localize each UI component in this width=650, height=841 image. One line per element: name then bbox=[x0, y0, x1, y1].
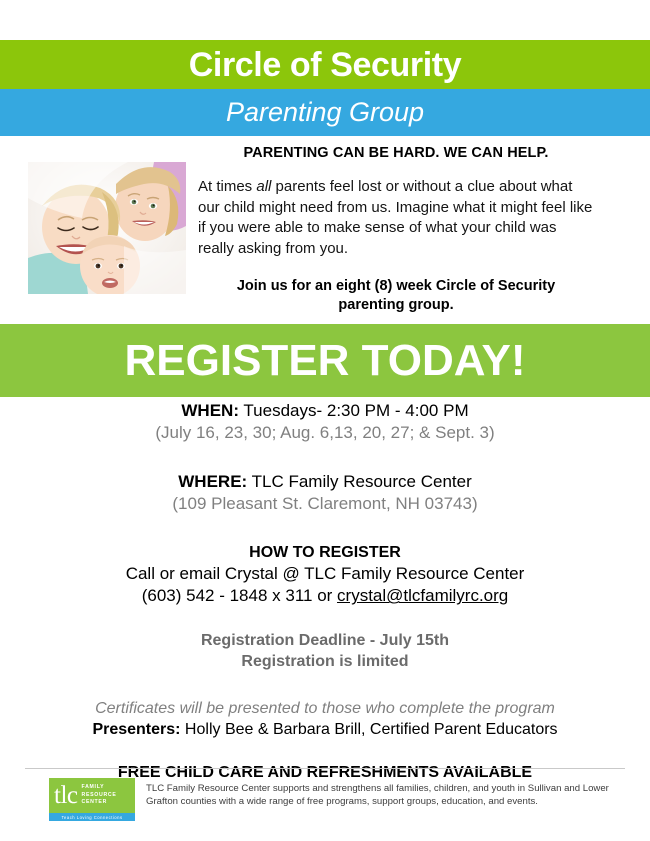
tlc-logo-wordmark: tlc bbox=[49, 783, 78, 808]
tlc-logo-word-resource: RESOURCE bbox=[82, 792, 117, 800]
children-photo-graphic bbox=[28, 162, 186, 294]
email-link[interactable]: crystal@tlcfamilyrc.org bbox=[337, 586, 508, 605]
registration-deadline: Registration Deadline - July 15th bbox=[0, 630, 650, 651]
children-photo bbox=[28, 162, 186, 294]
join-us-line-2: parenting group. bbox=[198, 296, 594, 315]
tlc-logo-tagline: Teach Loving Connections bbox=[49, 813, 135, 821]
tlc-logo-words: FAMILY RESOURCE CENTER bbox=[82, 784, 117, 807]
presenters-line: Presenters: Holly Bee & Barbara Brill, C… bbox=[0, 719, 650, 740]
join-us-callout: Join us for an eight (8) week Circle of … bbox=[198, 277, 594, 315]
intro-paragraph: At times all parents feel lost or withou… bbox=[198, 177, 594, 259]
intro-headline: PARENTING CAN BE HARD. WE CAN HELP. bbox=[198, 145, 594, 161]
page-title: Circle of Security bbox=[189, 48, 461, 82]
intro-copy: PARENTING CAN BE HARD. WE CAN HELP. At t… bbox=[198, 145, 594, 315]
how-to-register-label: HOW TO REGISTER bbox=[0, 542, 650, 563]
header-title-banner: Circle of Security bbox=[0, 40, 650, 89]
intro-paragraph-emphasis: all bbox=[256, 178, 271, 195]
registration-limited: Registration is limited bbox=[0, 651, 650, 672]
tlc-logo: tlc FAMILY RESOURCE CENTER Teach Loving … bbox=[49, 778, 135, 821]
where-line: WHERE: TLC Family Resource Center bbox=[0, 471, 650, 493]
details-section: WHEN: Tuesdays- 2:30 PM - 4:00 PM (July … bbox=[0, 400, 650, 783]
intro-paragraph-pre: At times bbox=[198, 178, 256, 195]
presenters-label: Presenters: bbox=[92, 721, 180, 738]
footer-divider bbox=[25, 768, 625, 769]
how-to-register-line-1: Call or email Crystal @ TLC Family Resou… bbox=[0, 563, 650, 585]
when-dates: (July 16, 23, 30; Aug. 6,13, 20, 27; & S… bbox=[0, 422, 650, 444]
where-label: WHERE: bbox=[178, 472, 247, 491]
tlc-logo-word-family: FAMILY bbox=[82, 784, 117, 792]
where-address: (109 Pleasant St. Claremont, NH 03743) bbox=[0, 493, 650, 515]
presenters-value: Holly Bee & Barbara Brill, Certified Par… bbox=[180, 721, 557, 738]
join-us-line-1: Join us for an eight (8) week Circle of … bbox=[198, 277, 594, 296]
header-subtitle-banner: Parenting Group bbox=[0, 89, 650, 136]
page-subtitle: Parenting Group bbox=[226, 99, 424, 126]
footer-description: TLC Family Resource Center supports and … bbox=[146, 782, 616, 808]
phone-number: (603) 542 - 1848 x 311 or bbox=[142, 586, 337, 605]
how-to-register-line-2: (603) 542 - 1848 x 311 or crystal@tlcfam… bbox=[0, 585, 650, 607]
register-today-text: REGISTER TODAY! bbox=[125, 339, 526, 383]
certificates-note: Certificates will be presented to those … bbox=[0, 698, 650, 719]
where-value: TLC Family Resource Center bbox=[247, 472, 472, 491]
register-today-banner: REGISTER TODAY! bbox=[0, 324, 650, 397]
when-value: Tuesdays- 2:30 PM - 4:00 PM bbox=[239, 401, 469, 420]
tlc-logo-word-center: CENTER bbox=[82, 799, 117, 807]
when-line: WHEN: Tuesdays- 2:30 PM - 4:00 PM bbox=[0, 400, 650, 422]
tlc-logo-main: tlc FAMILY RESOURCE CENTER bbox=[49, 778, 135, 813]
when-label: WHEN: bbox=[181, 401, 239, 420]
